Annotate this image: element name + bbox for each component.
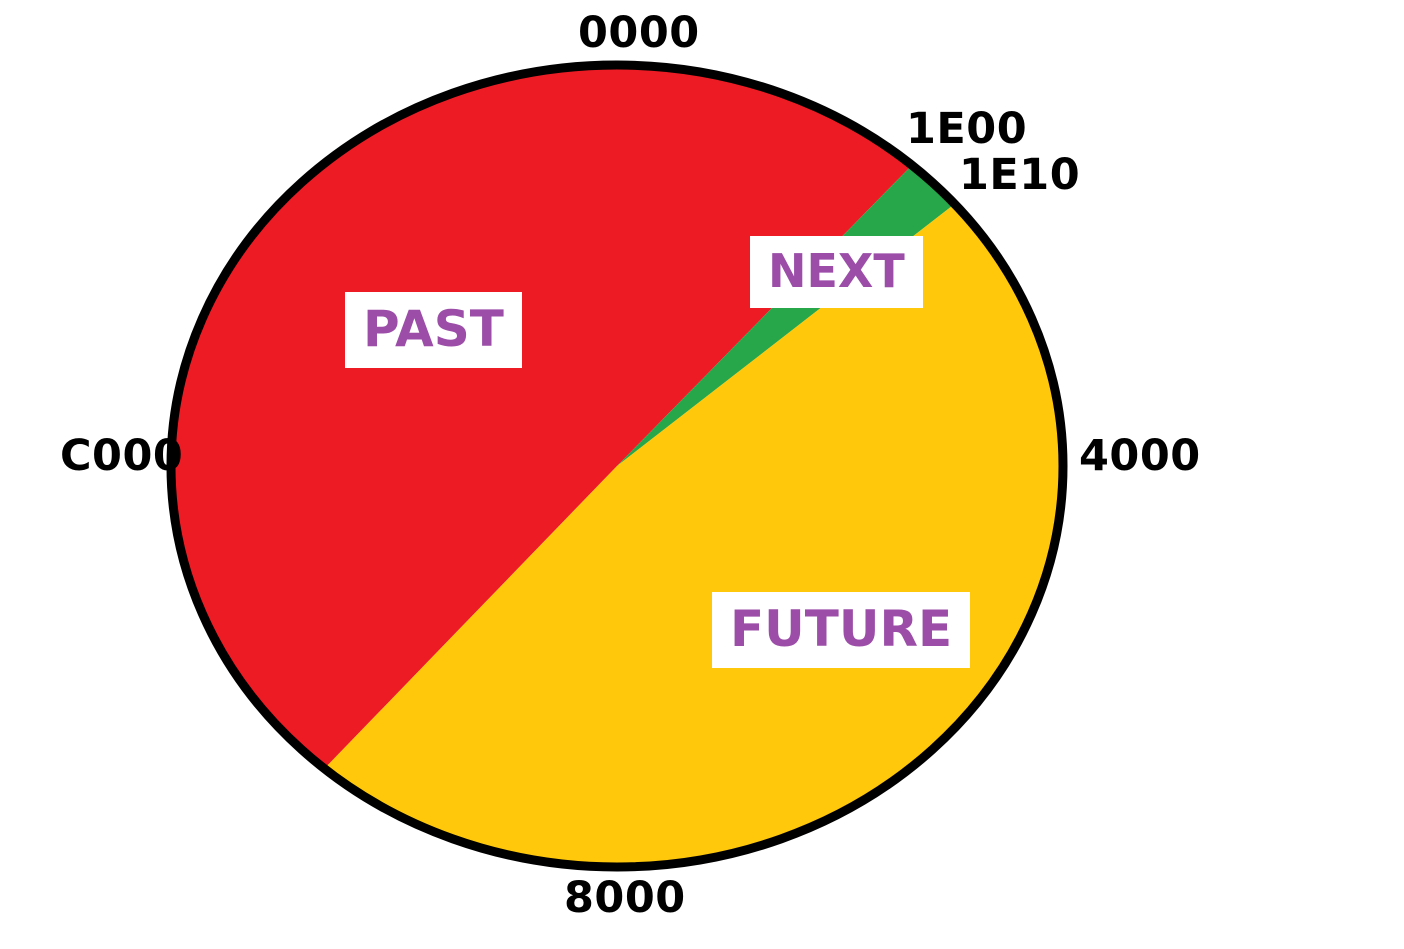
slice-label-past: PAST: [345, 292, 522, 368]
tick-label-1e00: 1E00: [906, 108, 1027, 151]
slice-label-future: FUTURE: [712, 592, 970, 668]
tick-label-0000: 0000: [578, 12, 700, 55]
tick-label-4000: 4000: [1079, 435, 1201, 478]
tick-label-c000: C000: [60, 435, 183, 478]
slice-label-next: NEXT: [750, 236, 923, 308]
tick-label-1e10: 1E10: [959, 154, 1080, 197]
tick-label-8000: 8000: [564, 877, 686, 920]
pie-chart-figure: 0000 1E00 1E10 4000 8000 C000 PAST NEXT …: [0, 0, 1404, 949]
